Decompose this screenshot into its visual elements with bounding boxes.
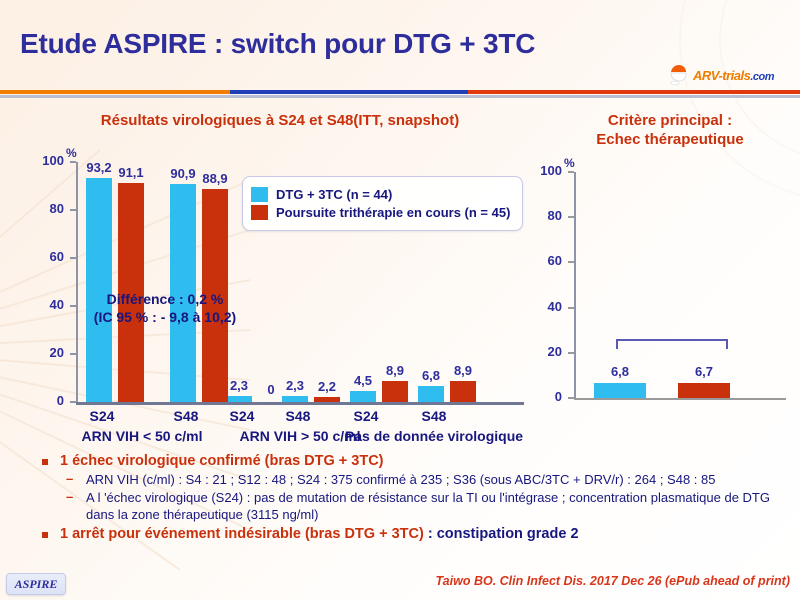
y-tick-label: 60: [30, 249, 64, 264]
bar-right-1: [678, 383, 730, 398]
aspire-badge[interactable]: ASPIRE: [6, 573, 66, 595]
divider-segment-orange: [0, 90, 230, 94]
y-tick-label: 20: [30, 345, 64, 360]
bar-dtg-3tc-n-44--2: [226, 396, 252, 402]
divider-segment-blue: [230, 90, 468, 94]
y-tick-label: 20: [528, 344, 562, 359]
legend-label-dtg3tc: DTG + 3TC (n = 44): [276, 187, 392, 202]
y-tick-mark: [70, 257, 76, 259]
y-tick-mark: [70, 401, 76, 403]
right-chart-heading-line2: Echec thérapeutique: [545, 131, 795, 150]
difference-line1: Différence : 0,2 %: [50, 290, 280, 308]
difference-line2: (IC 95 % : - 9,8 à 10,2): [50, 308, 280, 326]
citation-text: Taiwo BO. Clin Infect Dis. 2017 Dec 26 (…: [436, 574, 790, 588]
y-tick-label: 100: [528, 163, 562, 178]
slide-canvas: Etude ASPIRE : switch pour DTG + 3TC ARV…: [0, 0, 800, 600]
x-group-label: Pas de donnée virologique: [344, 428, 524, 444]
bullet-level2: ARN VIH (c/ml) : S4 : 21 ; S12 : 48 ; S2…: [34, 472, 774, 489]
legend-item: Poursuite trithérapie en cours (n = 45): [251, 205, 510, 220]
y-tick-label: 80: [528, 208, 562, 223]
bar-value-label: 6,7: [678, 364, 730, 379]
capsule-icon: [667, 64, 693, 86]
logo-wordmark: ARV-trials.com: [693, 68, 774, 83]
bar-right-0: [594, 383, 646, 398]
y-tick-mark: [568, 216, 574, 218]
y-tick-label: 40: [528, 299, 562, 314]
x-category-label: S24: [212, 408, 272, 424]
y-tick-mark: [568, 307, 574, 309]
bullet-level1: 1 arrêt pour événement indésirable (bras…: [34, 525, 774, 543]
y-tick-mark: [568, 261, 574, 263]
y-tick-mark: [568, 397, 574, 399]
bar-value-label: 6,8: [594, 364, 646, 379]
difference-annotation: Différence : 0,2 % (IC 95 % : - 9,8 à 10…: [50, 290, 280, 326]
y-tick-label: 80: [30, 201, 64, 216]
legend-swatch-dtg3tc: [251, 187, 268, 202]
bar-value-label: 0: [251, 382, 291, 397]
left-chart-heading: Résultats virologiques à S24 et S48(ITT,…: [40, 112, 520, 131]
bar-poursuite-trith-rapie-en-cours-n-45--5: [450, 381, 476, 402]
y-tick-label: 100: [30, 153, 64, 168]
left-chart-legend: DTG + 3TC (n = 44) Poursuite trithérapie…: [242, 176, 523, 231]
bar-dtg-3tc-n-44--5: [418, 386, 444, 402]
y-tick-label: 0: [528, 389, 562, 404]
bar-value-label: 88,9: [195, 171, 235, 186]
right-chart-x-axis: [574, 398, 786, 400]
bullet-text-primary: 1 échec virologique confirmé (bras DTG +…: [60, 453, 384, 469]
y-tick-label: 60: [528, 253, 562, 268]
right-chart-heading-line1: Critère principal :: [545, 112, 795, 131]
x-category-label: S48: [156, 408, 216, 424]
x-category-label: S48: [268, 408, 328, 424]
bar-poursuite-trith-rapie-en-cours-n-45--4: [382, 381, 408, 402]
right-chart-y-unit: %: [564, 156, 575, 170]
y-tick-label: 0: [30, 393, 64, 408]
bullet-text-secondary: : constipation grade 2: [424, 526, 579, 542]
left-chart-y-unit: %: [66, 146, 77, 160]
legend-label-trithérapie: Poursuite trithérapie en cours (n = 45): [276, 205, 510, 220]
x-category-label: S24: [336, 408, 396, 424]
arv-trials-logo[interactable]: ARV-trials.com: [657, 62, 792, 96]
legend-swatch-trithérapie: [251, 205, 268, 220]
y-tick-mark: [70, 161, 76, 163]
bar-dtg-3tc-n-44--4: [350, 391, 376, 402]
y-tick-mark: [70, 353, 76, 355]
logo-wordmark-main: ARV-trials: [693, 68, 750, 83]
y-tick-mark: [568, 171, 574, 173]
bar-value-label: 91,1: [111, 165, 151, 180]
right-bar-chart: % 020406080100 6,86,7: [528, 158, 790, 408]
x-category-label: S24: [72, 408, 132, 424]
right-chart-y-axis: [574, 172, 576, 400]
y-tick-mark: [70, 209, 76, 211]
bar-poursuite-trith-rapie-en-cours-n-45--3: [314, 397, 340, 402]
legend-item: DTG + 3TC (n = 44): [251, 187, 510, 202]
logo-wordmark-suffix: .com: [750, 71, 774, 83]
right-chart-heading: Critère principal : Echec thérapeutique: [545, 112, 795, 150]
x-group-label: ARN VIH < 50 c/ml: [52, 428, 232, 444]
bullet-level1: 1 échec virologique confirmé (bras DTG +…: [34, 452, 774, 470]
bullet-list: 1 échec virologique confirmé (bras DTG +…: [34, 452, 774, 545]
bar-value-label: 8,9: [443, 363, 483, 378]
bullet-text-primary: 1 arrêt pour événement indésirable (bras…: [60, 526, 424, 542]
bar-value-label: 8,9: [375, 363, 415, 378]
bullet-level2: A l 'échec virologique (S24) : pas de mu…: [34, 490, 774, 524]
x-category-label: S48: [404, 408, 464, 424]
slide-title: Etude ASPIRE : switch pour DTG + 3TC: [20, 28, 535, 60]
bar-value-label: 2,2: [307, 379, 347, 394]
y-tick-mark: [568, 352, 574, 354]
bar-dtg-3tc-n-44--3: [282, 396, 308, 402]
difference-bracket: [616, 339, 728, 349]
